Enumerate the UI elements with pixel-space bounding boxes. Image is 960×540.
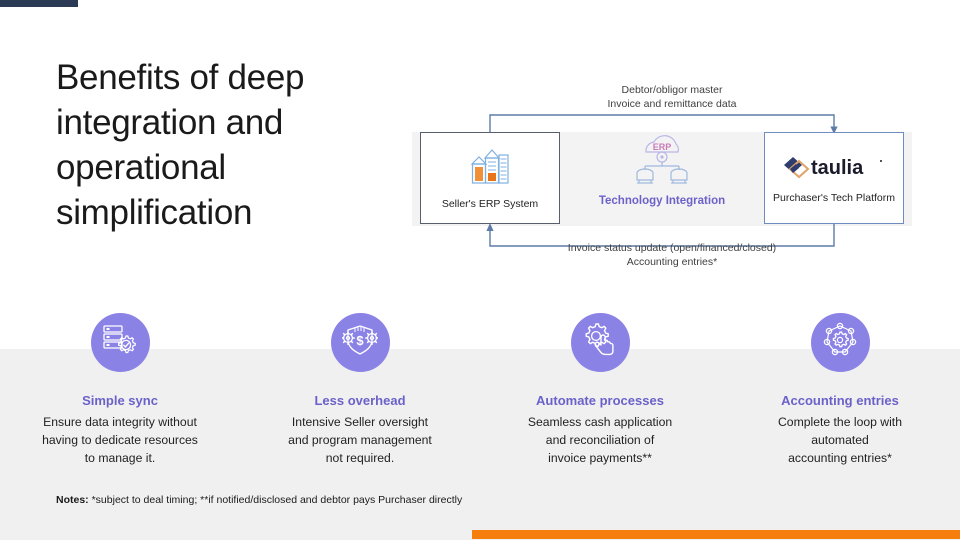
- page-title: Benefits of deep integration and operati…: [56, 55, 396, 235]
- benefit-body: Intensive Seller oversight and program m…: [255, 413, 465, 467]
- benefit-body-line: automated: [735, 431, 945, 449]
- notes-label: Notes:: [56, 494, 89, 506]
- benefit-body: Ensure data integrity without having to …: [15, 413, 225, 467]
- benefit-item: Automate processes Seamless cash applica…: [480, 313, 720, 483]
- integration-diagram: Debtor/obligor master Invoice and remitt…: [412, 84, 932, 274]
- taulia-logo: taulia: [780, 153, 888, 186]
- svg-text:ERP: ERP: [653, 142, 672, 152]
- purchaser-platform-box: taulia Purchaser's Tech Platform: [764, 132, 904, 224]
- notes-line: Notes: *subject to deal timing; **if not…: [56, 494, 462, 506]
- benefit-icon-circle: $: [331, 313, 390, 372]
- bottom-flow-caption-line-2: Accounting entries*: [492, 256, 852, 270]
- svg-text:$: $: [356, 333, 364, 348]
- benefit-body-line: and program management: [255, 431, 465, 449]
- server-gear-check-icon: [102, 323, 138, 362]
- svg-text:taulia: taulia: [811, 157, 864, 179]
- benefit-body-line: to manage it.: [15, 449, 225, 467]
- benefit-item: Accounting entries Complete the loop wit…: [720, 313, 960, 483]
- technology-integration-group: ERP Technology Integration: [592, 130, 732, 230]
- bottom-flow-caption: Invoice status update (open/financed/clo…: [492, 242, 852, 269]
- bottom-flow-caption-line-1: Invoice status update (open/financed/clo…: [492, 242, 852, 256]
- seller-erp-label: Seller's ERP System: [442, 198, 538, 210]
- notes-text: *subject to deal timing; **if notified/d…: [92, 494, 463, 506]
- purchaser-platform-label: Purchaser's Tech Platform: [773, 192, 895, 204]
- benefit-item: $: [240, 313, 480, 483]
- benefit-heading: Simple sync: [82, 393, 158, 408]
- benefit-body-line: accounting entries*: [735, 449, 945, 467]
- benefits-row: Simple sync Ensure data integrity withou…: [0, 313, 960, 483]
- top-flow-caption-line-1: Debtor/obligor master: [532, 84, 812, 98]
- benefit-body-line: Intensive Seller oversight: [255, 413, 465, 431]
- benefit-icon-circle: [571, 313, 630, 372]
- benefit-body-line: having to dedicate resources: [15, 431, 225, 449]
- gears-dollar-shield-icon: $: [342, 323, 378, 362]
- benefit-body: Seamless cash application and reconcilia…: [495, 413, 705, 467]
- technology-integration-label: Technology Integration: [599, 195, 725, 207]
- benefit-body-line: and reconciliation of: [495, 431, 705, 449]
- benefit-body: Complete the loop with automated account…: [735, 413, 945, 467]
- benefit-body-line: Seamless cash application: [495, 413, 705, 431]
- seller-erp-box: Seller's ERP System: [420, 132, 560, 224]
- benefit-body-line: Ensure data integrity without: [15, 413, 225, 431]
- gear-hand-click-icon: [582, 323, 618, 362]
- top-flow-caption: Debtor/obligor master Invoice and remitt…: [532, 84, 812, 111]
- bottom-right-accent-bar: [472, 530, 960, 539]
- benefit-body-line: invoice payments**: [495, 449, 705, 467]
- benefit-heading: Accounting entries: [781, 393, 899, 408]
- benefit-icon-circle: [811, 313, 870, 372]
- benefit-item: Simple sync Ensure data integrity withou…: [0, 313, 240, 483]
- gear-network-nodes-icon: [822, 322, 858, 363]
- erp-cloud-servers-icon: ERP: [629, 130, 695, 191]
- benefit-heading: Automate processes: [536, 393, 664, 408]
- top-left-accent-bar: [0, 0, 78, 7]
- top-flow-caption-line-2: Invoice and remittance data: [532, 98, 812, 112]
- benefit-body-line: not required.: [255, 449, 465, 467]
- office-buildings-icon: [468, 147, 512, 192]
- benefit-heading: Less overhead: [314, 393, 405, 408]
- benefit-icon-circle: [91, 313, 150, 372]
- benefit-body-line: Complete the loop with: [735, 413, 945, 431]
